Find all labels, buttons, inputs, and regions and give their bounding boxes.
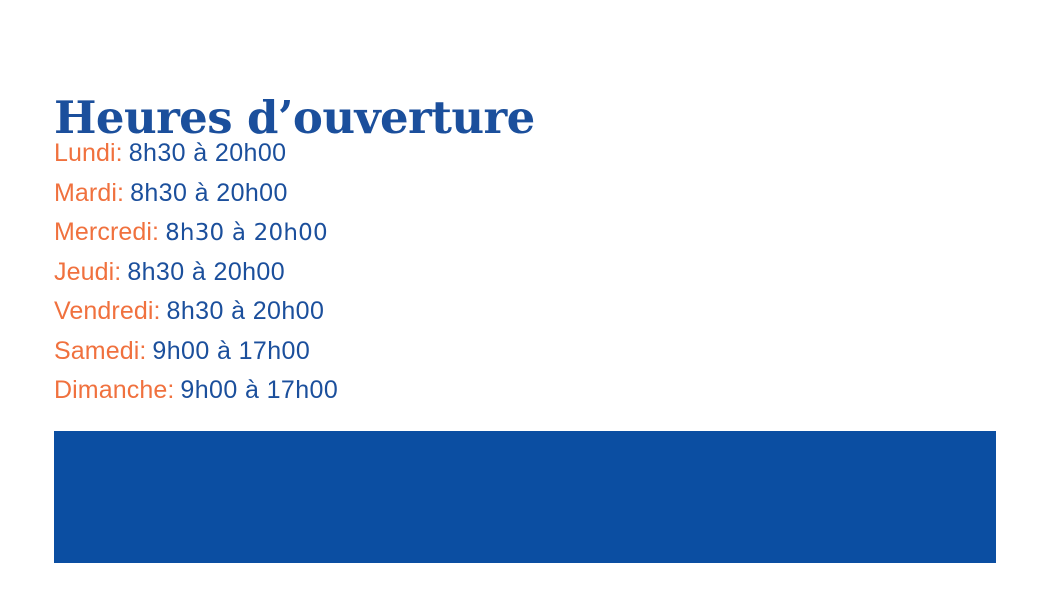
day-label-dimanche: Dimanche: [54,376,174,404]
time-value-dimanche: 9h00 à 17h00 [180,376,338,404]
time-value-mercredi: 8h30 à 20h00 [165,220,328,246]
time-value-jeudi: 8h30 à 20h00 [127,258,285,286]
time-value-vendredi: 8h30 à 20h00 [167,297,325,325]
day-label-jeudi: Jeudi: [54,258,121,286]
hours-row-vendredi: Vendredi:8h30 à 20h00 [54,292,754,332]
time-value-mardi: 8h30 à 20h00 [130,179,288,207]
day-label-mardi: Mardi: [54,179,124,207]
day-label-lundi: Lundi: [54,139,123,167]
hours-row-jeudi: Jeudi:8h30 à 20h00 [54,253,754,293]
hours-row-samedi: Samedi:9h00 à 17h00 [54,332,754,372]
day-label-samedi: Samedi: [54,337,146,365]
hours-row-lundi: Lundi:8h30 à 20h00 [54,134,754,174]
day-label-vendredi: Vendredi: [54,297,161,325]
time-value-lundi: 8h30 à 20h00 [129,139,287,167]
hours-row-mercredi: Mercredi:8h30 à 20h00 [54,213,754,253]
hours-row-mardi: Mardi:8h30 à 20h00 [54,174,754,214]
hours-row-dimanche: Dimanche:9h00 à 17h00 [54,371,754,411]
slide-canvas: Heures d’ouverture Lundi:8h30 à 20h00 Ma… [0,0,1050,600]
blue-banner-block [54,431,996,563]
day-label-mercredi: Mercredi: [54,218,159,246]
opening-hours-list: Lundi:8h30 à 20h00 Mardi:8h30 à 20h00 Me… [54,134,754,411]
time-value-samedi: 9h00 à 17h00 [152,337,310,365]
